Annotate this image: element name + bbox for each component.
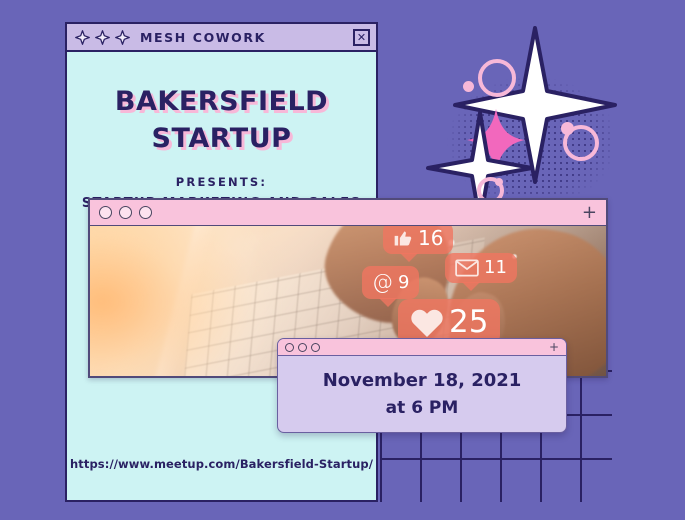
badge-count: 16: [418, 228, 443, 248]
window-traffic-lights[interactable]: [99, 206, 152, 219]
at-icon: @: [372, 272, 393, 293]
window-light-icon[interactable]: [298, 343, 307, 352]
page-title: Bakersfield Startup: [67, 52, 376, 153]
window-light-icon[interactable]: [119, 206, 132, 219]
photo-window-titlebar: +: [90, 200, 606, 226]
badge-count: 25: [449, 307, 488, 338]
headline-line-1: Bakersfield: [67, 79, 376, 116]
dot-small-icon: [561, 122, 574, 135]
dot-tiny-icon: [495, 178, 503, 186]
main-window-titlebar: MESH COWORK ✕: [67, 24, 376, 52]
event-date: November 18, 2021: [323, 370, 522, 391]
window-light-icon[interactable]: [285, 343, 294, 352]
add-icon[interactable]: +: [549, 341, 559, 353]
date-window: + November 18, 2021 at 6 PM: [277, 338, 567, 433]
heart-icon: [410, 307, 444, 338]
thumbs-up-icon: [393, 228, 413, 248]
window-traffic-lights[interactable]: [285, 343, 320, 352]
badge-count: 11: [484, 259, 507, 277]
poster-canvas: MESH COWORK ✕ Bakersfield Startup PRESEN…: [0, 0, 685, 520]
sparkle-icon: [95, 30, 110, 45]
envelope-icon: [455, 259, 479, 277]
date-window-body: November 18, 2021 at 6 PM: [278, 356, 566, 432]
window-light-icon[interactable]: [311, 343, 320, 352]
event-url-link[interactable]: https://www.meetup.com/Bakersfield-Start…: [67, 457, 376, 471]
brand-title: MESH COWORK: [140, 30, 266, 45]
notification-badge-mention: @ 9: [362, 266, 419, 299]
window-light-icon[interactable]: [139, 206, 152, 219]
presents-label: PRESENTS:: [67, 175, 376, 189]
window-light-icon[interactable]: [99, 206, 112, 219]
close-icon[interactable]: ✕: [353, 29, 370, 46]
notification-badge-likes: 16: [383, 226, 453, 254]
notification-badge-mail: 11: [445, 253, 517, 283]
sparkle-icon-group: [75, 30, 130, 45]
sparkle-icon: [75, 30, 90, 45]
ring-large-icon: [478, 59, 516, 97]
headline-line-2: Startup: [67, 116, 376, 153]
date-window-titlebar: +: [278, 339, 566, 356]
sparkle-icon: [115, 30, 130, 45]
event-time: at 6 PM: [386, 398, 459, 418]
dot-medium-icon: [463, 81, 474, 92]
add-icon[interactable]: +: [582, 204, 597, 222]
badge-count: 9: [398, 274, 409, 292]
